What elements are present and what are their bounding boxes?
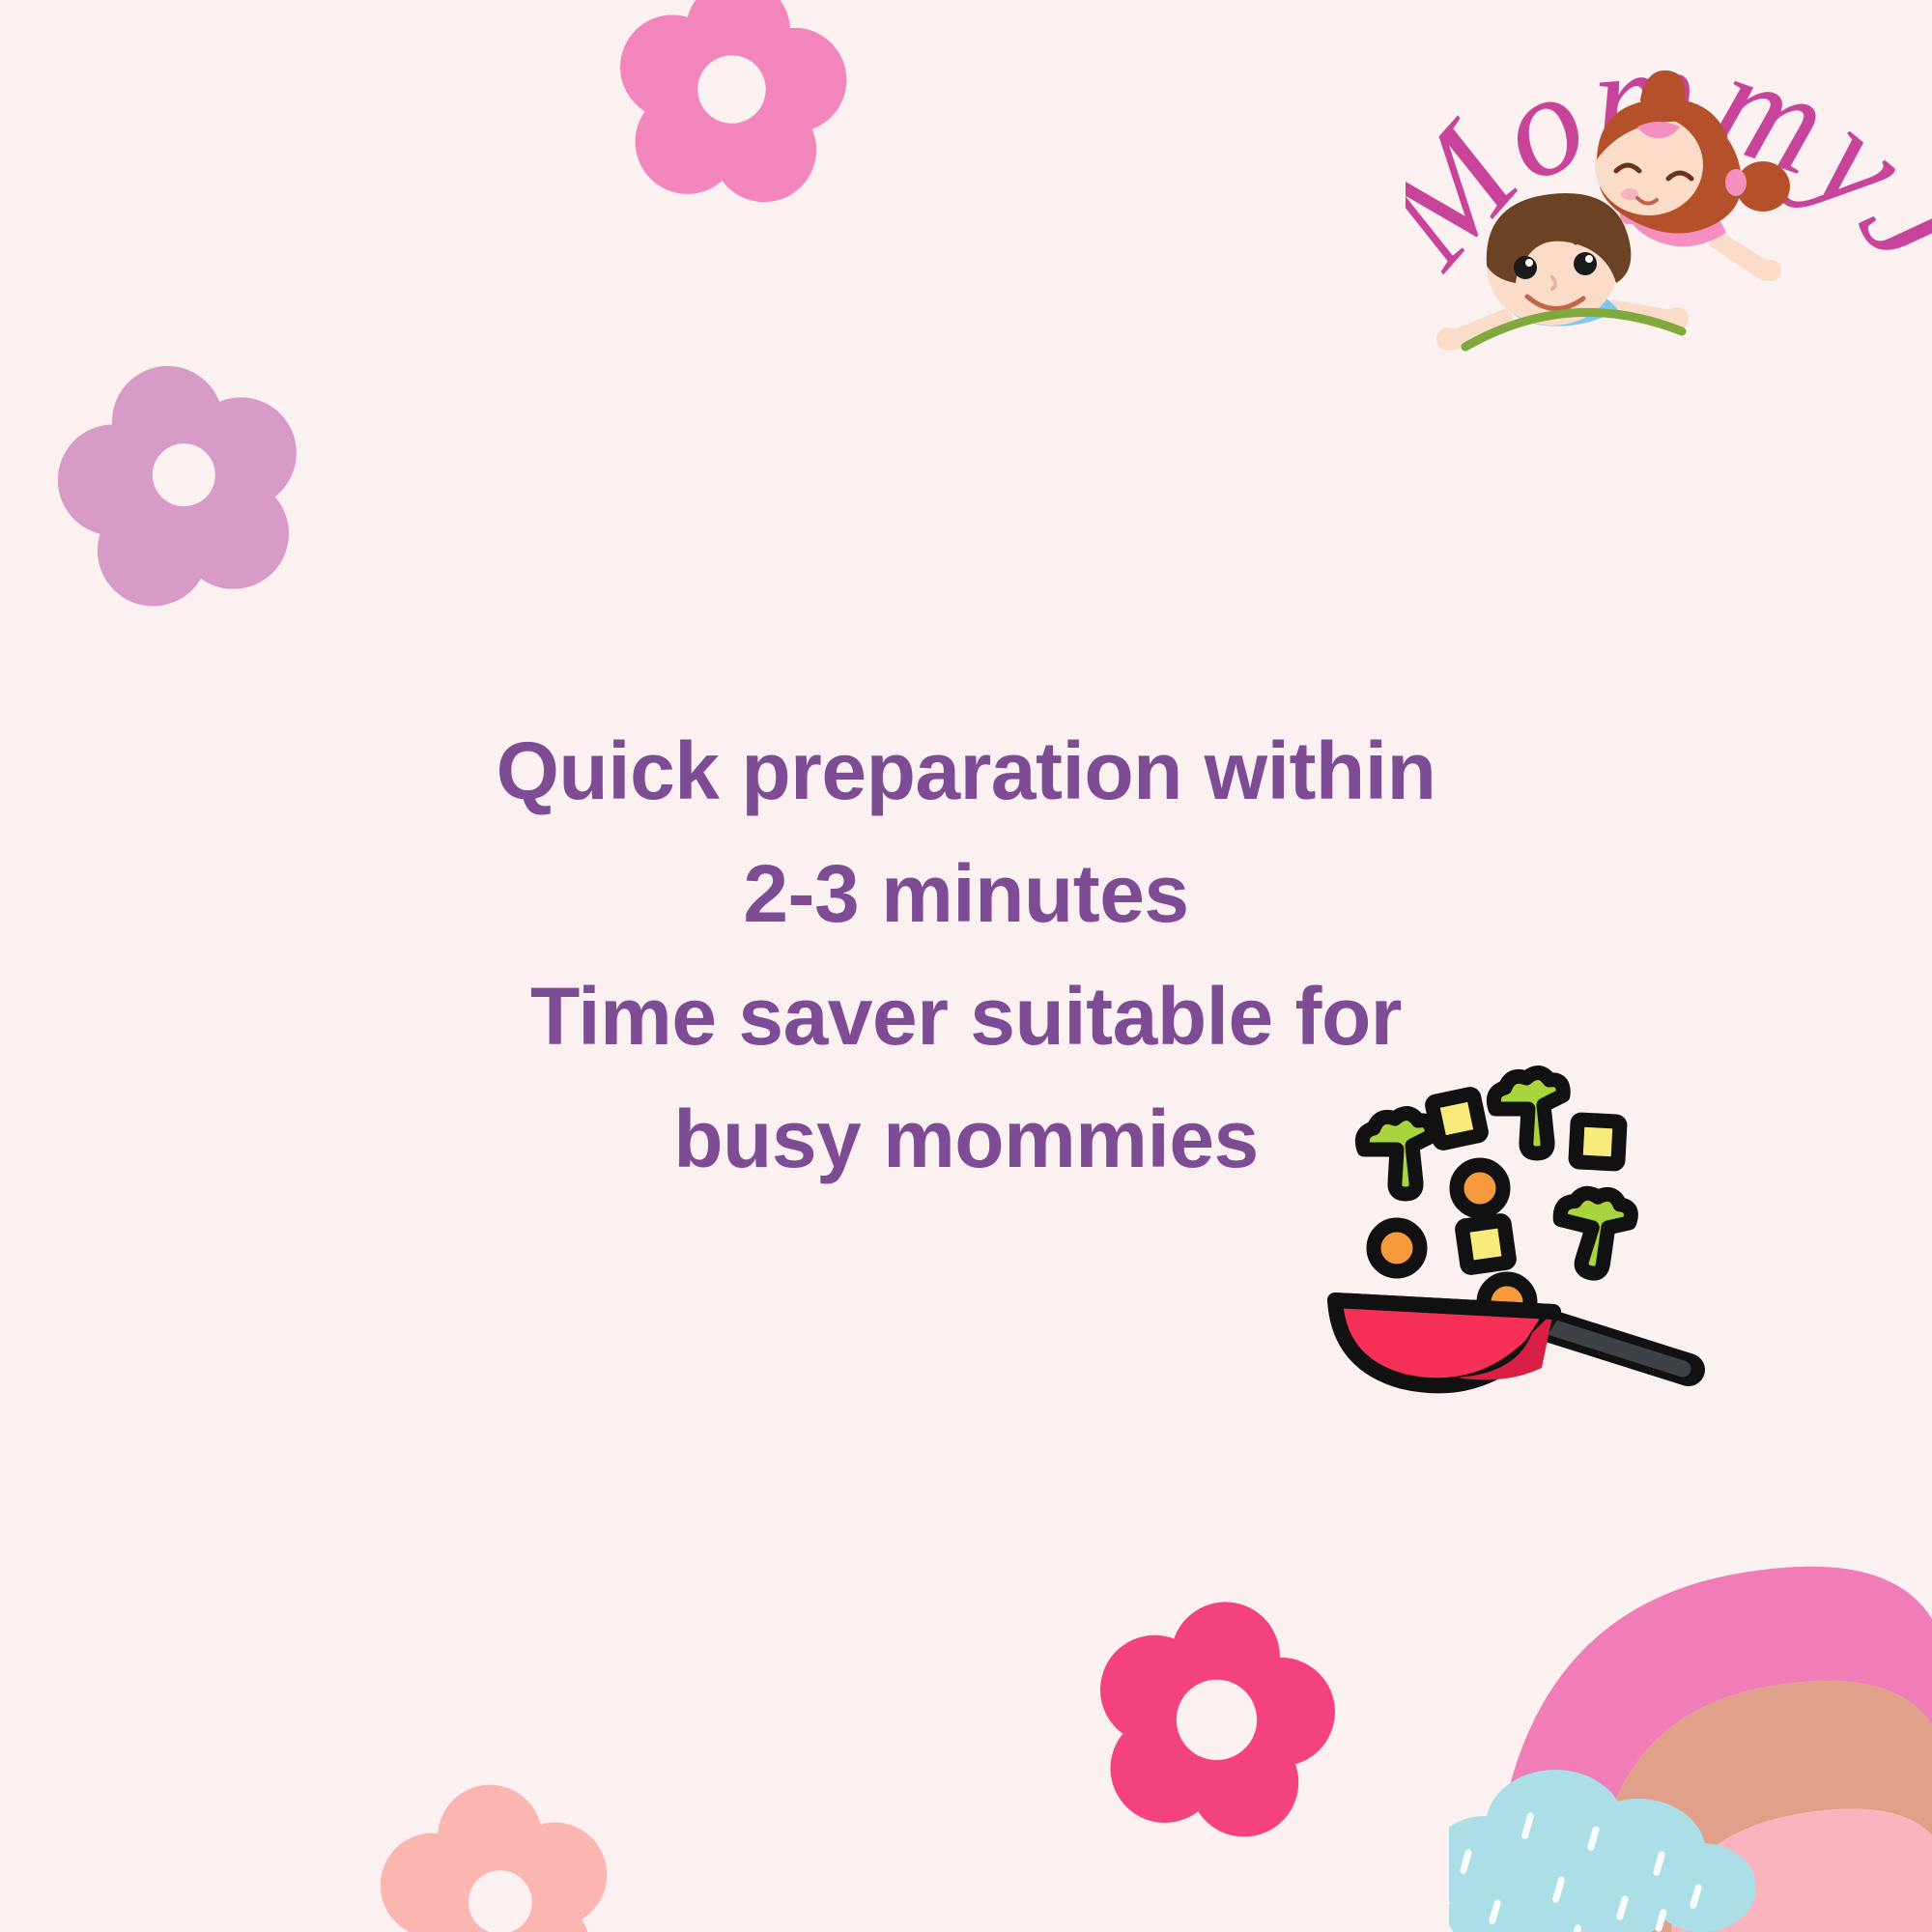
promo-canvas: MommyJ (0, 0, 1932, 1932)
flower-top-center (607, 0, 856, 214)
flower-bottom-left (372, 1773, 618, 1932)
headline-line-3: Time saver suitable for (0, 955, 1932, 1078)
rainbow-icon (1449, 1323, 1932, 1932)
flower-left-upper (38, 340, 325, 627)
yellow-cube-icon (1576, 1120, 1620, 1164)
rainbow-illustration (1449, 1323, 1932, 1932)
brand-logo: MommyJ (1406, 24, 1932, 353)
flower-icon (372, 1773, 618, 1932)
orange-circle-icon (1374, 1225, 1420, 1271)
flower-bottom-center (1078, 1580, 1352, 1855)
mommyj-logo-icon: MommyJ (1406, 24, 1932, 353)
yellow-cube-icon (1462, 1220, 1510, 1268)
broccoli-icon (1362, 1113, 1432, 1194)
yellow-cube-icon (1432, 1094, 1482, 1144)
flower-icon (38, 340, 325, 627)
broccoli-icon (1548, 1184, 1635, 1279)
headline-line-1: Quick preparation within (0, 710, 1932, 833)
flower-icon (1078, 1580, 1352, 1855)
headline-line-2: 2-3 minutes (0, 833, 1932, 955)
flower-icon (607, 0, 856, 214)
orange-circle-icon (1457, 1165, 1503, 1211)
broccoli-icon (1493, 1072, 1563, 1153)
